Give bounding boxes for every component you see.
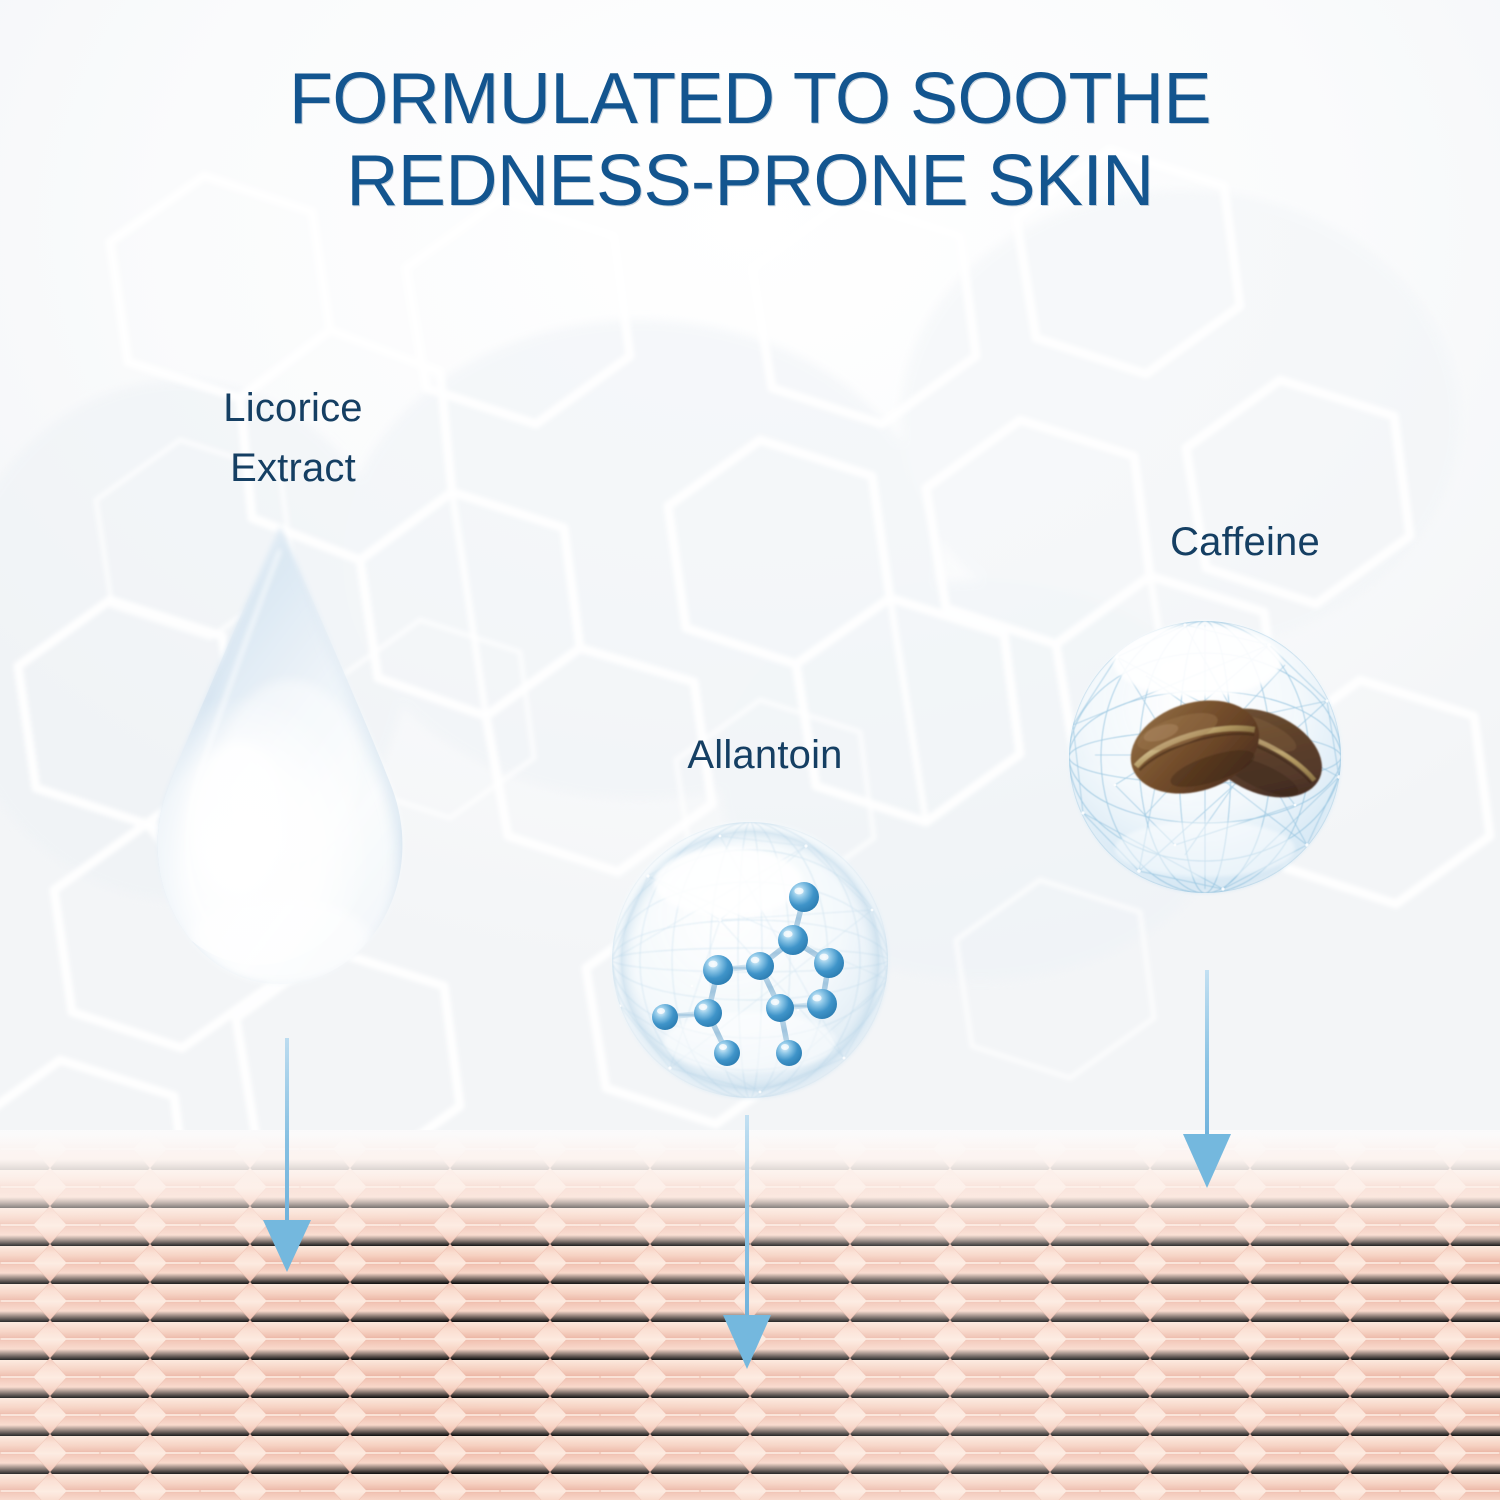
page-title: FORMULATED TO SOOTHE REDNESS-PRONE SKIN (0, 58, 1500, 222)
allantoin-molecule-sphere (600, 810, 900, 1110)
arrow-allantoin-to-skin (712, 1115, 782, 1375)
arrow-licorice-to-skin (252, 1038, 322, 1278)
water-droplet-licorice (130, 520, 430, 1010)
headline-line-2: REDNESS-PRONE SKIN (0, 140, 1500, 222)
ingredient-label-allantoin: Allantoin (615, 725, 915, 785)
ingredient-label-licorice: Licorice Extract (133, 378, 453, 498)
caffeine-coffee-bean-sphere (1055, 605, 1355, 905)
infographic-canvas: FORMULATED TO SOOTHE REDNESS-PRONE SKIN … (0, 0, 1500, 1500)
ingredient-label-caffeine: Caffeine (1095, 512, 1395, 572)
headline-line-1: FORMULATED TO SOOTHE (289, 59, 1211, 139)
arrow-caffeine-to-skin (1172, 970, 1242, 1192)
